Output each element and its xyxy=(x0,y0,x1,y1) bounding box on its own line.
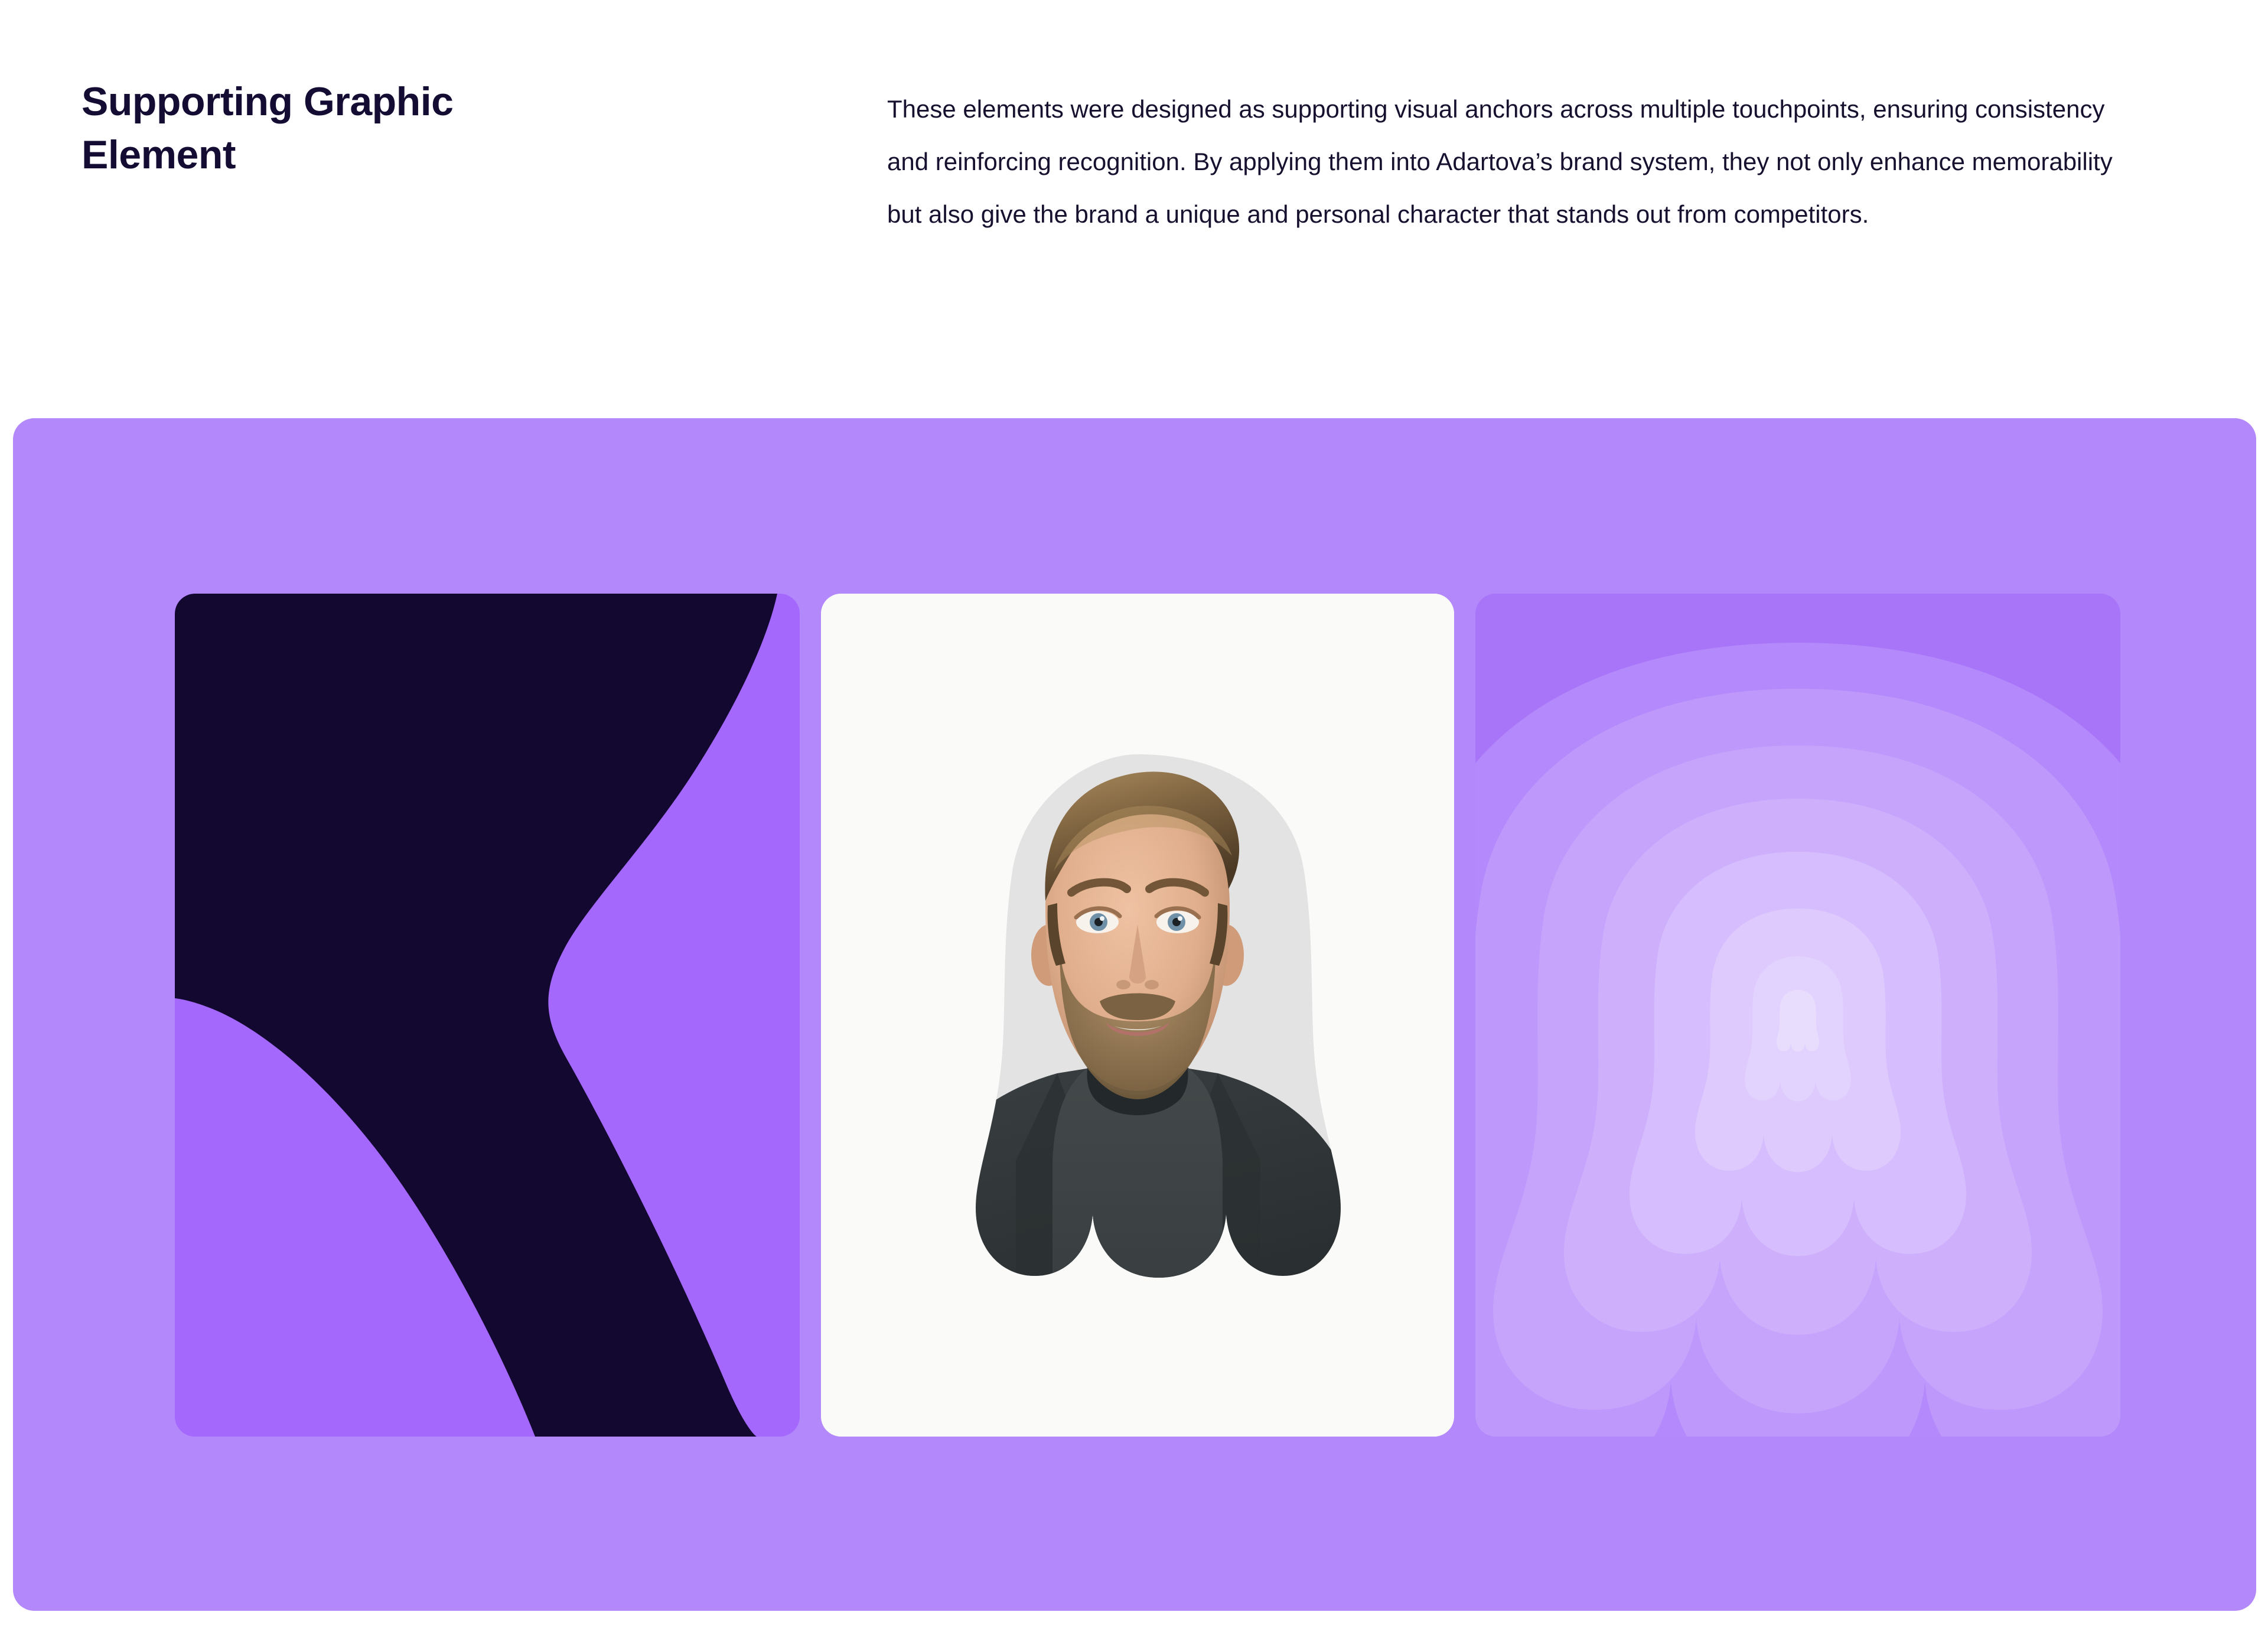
brand-mark-card[interactable] xyxy=(175,594,800,1437)
portrait-photo xyxy=(821,594,1454,1437)
pattern-card[interactable] xyxy=(1475,594,2120,1437)
showcase-card-row xyxy=(175,594,2118,1437)
page-title: Supporting Graphic Element xyxy=(82,76,613,182)
section-description: These elements were designed as supporti… xyxy=(887,83,2145,240)
showcase-panel xyxy=(13,418,2256,1611)
concentric-rings-pattern xyxy=(1475,594,2120,1437)
brand-mark-icon xyxy=(175,594,800,1437)
page-header: Supporting Graphic Element These element… xyxy=(0,0,2268,418)
portrait-card[interactable] xyxy=(821,594,1454,1437)
ring-1 xyxy=(1777,990,1819,1051)
